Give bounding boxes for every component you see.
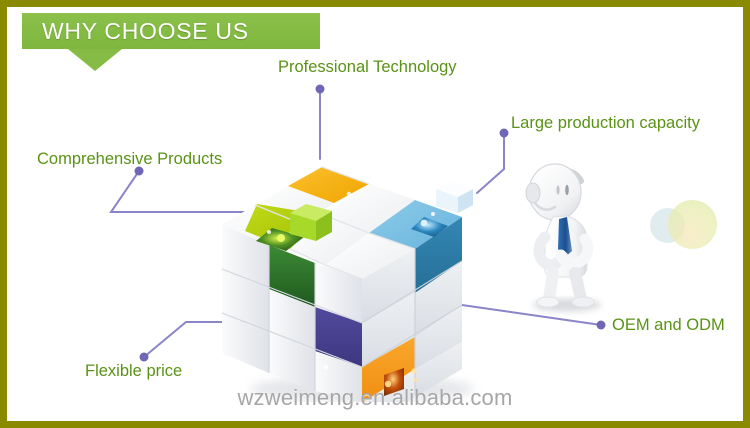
banner-tail-arrow [68,49,122,71]
figure-leg-right [575,273,581,299]
figure-eye-right [565,185,569,195]
watermark-url: wzweimeng.en.alibaba.com [7,385,743,411]
page-title: WHY CHOOSE US [42,18,249,45]
cube-illustration [212,137,502,402]
label-flexible-price: Flexible price [85,362,182,381]
cube-blue-popped-block [436,182,473,213]
figure-foot-right [572,297,594,307]
figure-leg-left [549,273,553,299]
wire-dot-flexible-price [140,353,149,362]
label-comprehensive-products: Comprehensive Products [37,150,222,169]
label-professional-technology: Professional Technology [278,58,457,77]
figure-eye-left [556,185,559,194]
wire-dot-oem-and-odm [597,321,606,330]
decor-circle-green [668,200,717,249]
label-oem-and-odm: OEM and ODM [612,316,725,335]
support-agent-figure [515,159,625,319]
slide-frame: WHY CHOOSE US [0,0,750,428]
cube-green-popped-block [290,204,332,241]
label-large-production-capacity: Large production capacity [511,114,700,133]
slide-canvas: WHY CHOOSE US [7,7,743,421]
headset-earcup [526,183,540,203]
wire-dot-professional-technology [316,85,325,94]
figure-foot-left [537,297,559,307]
section-banner: WHY CHOOSE US [22,13,320,49]
